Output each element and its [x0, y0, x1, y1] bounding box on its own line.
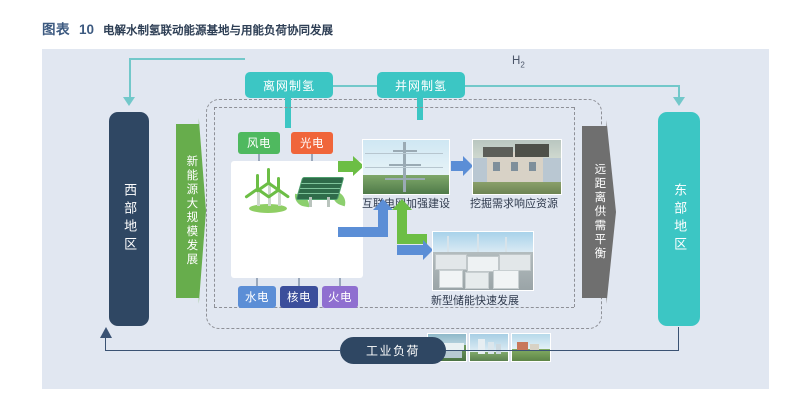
blue-elbow-vertical [378, 209, 388, 231]
teal-stem-offgrid [285, 98, 291, 128]
chevron-new-energy-label: 新能源大规模发展 [185, 155, 198, 267]
tag-hydro-power-label: 水电 [245, 289, 269, 305]
dashed-line-top [214, 107, 574, 108]
figure-title-text: 电解水制氢联动能源基地与用能负荷协同发展 [103, 22, 333, 38]
navy-line-left [105, 350, 341, 351]
blue-arrow-shaft-storage [397, 245, 423, 255]
teal-line-top-left [129, 58, 245, 60]
teal-stem-ongrid [417, 98, 423, 120]
caption-energy-storage: 新型储能快速发展 [431, 292, 519, 308]
region-east-label: 东部地区 [672, 183, 686, 255]
tag-nuclear-power-label: 核电 [287, 289, 311, 305]
tag-thermal-power-label: 火电 [328, 289, 352, 305]
tag-wind-power[interactable]: 风电 [238, 132, 280, 154]
region-west-box[interactable]: 西部地区 [109, 112, 149, 326]
button-off-grid-hydrogen[interactable]: 离网制氢 [245, 72, 333, 98]
region-west-label: 西部地区 [122, 183, 136, 255]
tag-nuclear-power[interactable]: 核电 [280, 286, 318, 308]
tag-wind-power-label: 风电 [247, 135, 271, 151]
photo-battery-storage [432, 231, 534, 291]
photo-thermal-plant [511, 333, 551, 362]
blue-elbow-arrow-head [373, 199, 393, 210]
blue-arrow-shaft-house [451, 161, 463, 171]
button-off-grid-hydrogen-label: 离网制氢 [263, 77, 315, 94]
industrial-load-label: 工业负荷 [366, 342, 420, 359]
caption-demand-response: 挖掘需求响应资源 [470, 195, 558, 211]
figure-title-label: 图表 [42, 18, 70, 38]
green-arrow-shaft-grid [338, 161, 353, 172]
hydrogen-formula-subscript: 2 [520, 60, 524, 69]
wind-turbine-icon [245, 170, 291, 216]
hydrogen-formula-label: H2 [512, 55, 525, 69]
dashed-line-left [214, 107, 215, 307]
button-on-grid-hydrogen[interactable]: 并网制氢 [377, 72, 465, 98]
diagram-canvas: 离网制氢 并网制氢 H2 西部地区 东部地区 新能源大规模发展 远距离供需平衡 … [42, 49, 769, 389]
figure-title: 图表 10 电解水制氢联动能源基地与用能负荷协同发展 [42, 18, 333, 38]
teal-line-between-buttons [333, 85, 377, 87]
green-elbow-arrow-head [392, 199, 412, 210]
teal-arrow-into-east [673, 97, 685, 106]
teal-line-down-west [129, 58, 131, 98]
tag-solar-power-label: 光电 [300, 135, 324, 151]
button-on-grid-hydrogen-label: 并网制氢 [395, 77, 447, 94]
photo-nuclear-plant [469, 333, 509, 362]
photo-residential-house [472, 139, 562, 195]
photo-power-grid [362, 139, 450, 195]
teal-arrow-into-west [123, 97, 135, 106]
chevron-long-distance-balance[interactable]: 远距离供需平衡 [582, 120, 616, 304]
chevron-balance-label: 远距离供需平衡 [593, 163, 606, 261]
energy-source-panel [231, 161, 363, 278]
solar-panel-icon [297, 175, 349, 215]
navy-line-down-east [678, 327, 679, 351]
chevron-new-energy-development[interactable]: 新能源大规模发展 [176, 118, 206, 304]
dashed-line-right [574, 107, 575, 307]
figure-title-number: 10 [79, 22, 94, 37]
tag-solar-power[interactable]: 光电 [291, 132, 333, 154]
navy-arrow-into-west [100, 327, 112, 338]
tag-hydro-power[interactable]: 水电 [238, 286, 276, 308]
navy-line-up-west [105, 337, 106, 351]
industrial-load-pill[interactable]: 工业负荷 [340, 337, 446, 364]
teal-line-to-east [465, 85, 679, 87]
region-east-box[interactable]: 东部地区 [658, 112, 700, 326]
navy-line-right [446, 350, 678, 351]
tag-thermal-power[interactable]: 火电 [322, 286, 358, 308]
